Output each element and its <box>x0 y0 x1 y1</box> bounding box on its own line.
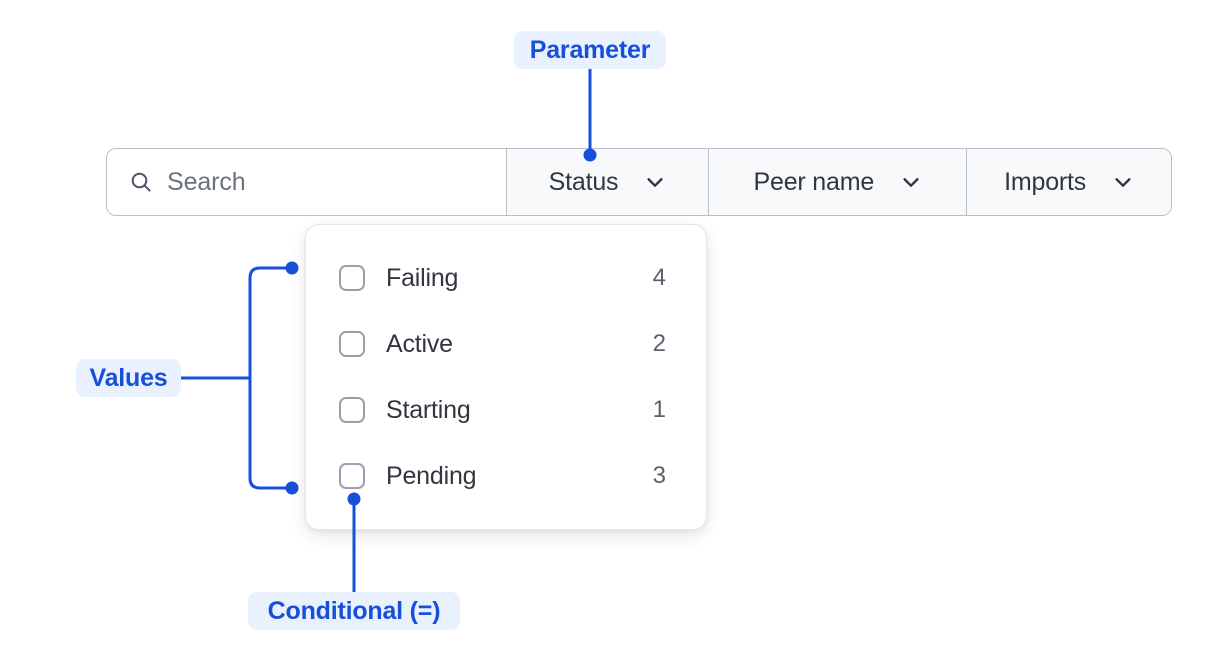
checkbox-starting[interactable] <box>339 397 365 423</box>
chevron-down-icon <box>900 171 922 193</box>
annotation-label-conditional: Conditional (=) <box>248 592 460 630</box>
filter-dropdown-imports[interactable]: Imports <box>967 149 1171 215</box>
option-label: Active <box>386 330 652 359</box>
checkbox-pending[interactable] <box>339 463 365 489</box>
option-label: Starting <box>386 396 652 425</box>
search-icon <box>129 170 153 194</box>
list-item[interactable]: Starting 1 <box>306 385 706 435</box>
filter-dropdown-status[interactable]: Status <box>507 149 710 215</box>
filter-dropdown-peer-name[interactable]: Peer name <box>709 149 967 215</box>
filter-toolbar: Search Status Peer name Imports <box>106 148 1172 216</box>
chevron-down-icon <box>1112 171 1134 193</box>
search-field[interactable]: Search <box>107 149 507 215</box>
search-input-placeholder[interactable]: Search <box>167 168 246 197</box>
list-item[interactable]: Active 2 <box>306 319 706 369</box>
filter-label-imports: Imports <box>1004 168 1086 197</box>
filter-label-peer-name: Peer name <box>754 168 875 197</box>
option-count: 2 <box>652 330 666 358</box>
option-count: 4 <box>652 264 666 292</box>
status-filter-dropdown-panel: Failing 4 Active 2 Starting 1 Pending 3 <box>305 224 707 530</box>
chevron-down-icon <box>644 171 666 193</box>
option-label: Pending <box>386 462 652 491</box>
option-label: Failing <box>386 264 652 293</box>
list-item[interactable]: Failing 4 <box>306 253 706 303</box>
list-item[interactable]: Pending 3 <box>306 451 706 501</box>
checkbox-failing[interactable] <box>339 265 365 291</box>
filter-label-status: Status <box>549 168 619 197</box>
connector-values <box>181 262 299 495</box>
annotation-label-parameter: Parameter <box>514 31 666 69</box>
option-count: 3 <box>652 462 666 490</box>
annotation-label-values: Values <box>76 359 181 397</box>
checkbox-active[interactable] <box>339 331 365 357</box>
option-count: 1 <box>652 396 666 424</box>
